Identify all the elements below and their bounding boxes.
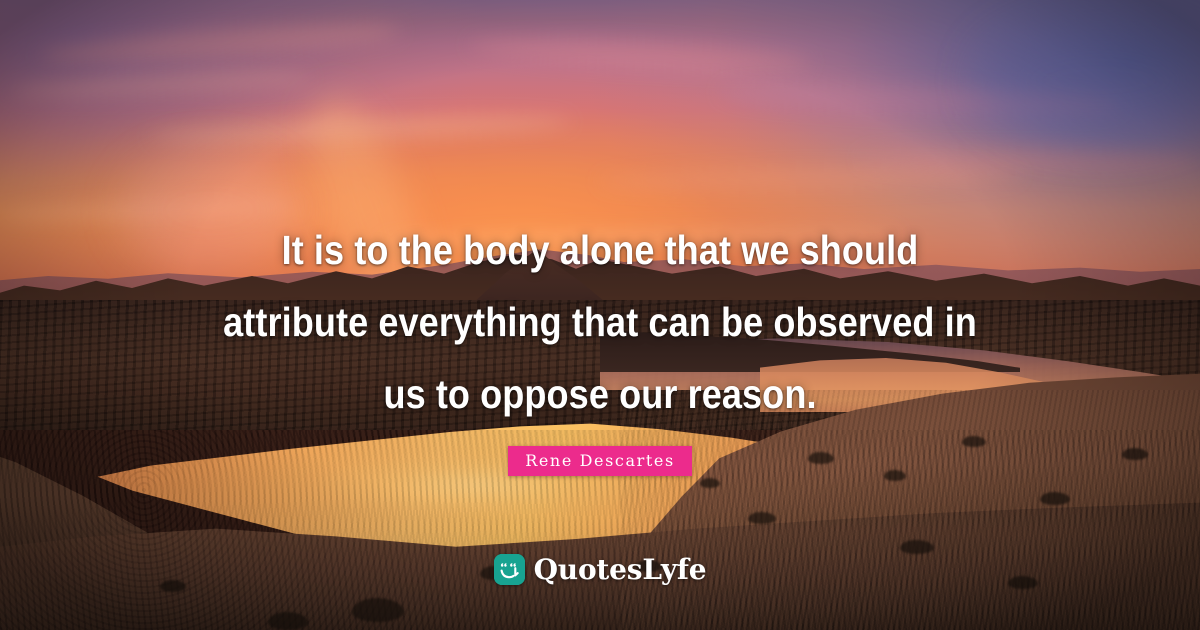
quote-smiley-icon	[494, 554, 525, 585]
quote-text-block: It is to the body alone that we should a…	[0, 214, 1200, 430]
quote-line-1: It is to the body alone that we should	[72, 214, 1128, 286]
author-name-badge[interactable]: Rene Descartes	[508, 446, 692, 476]
author-attribution: Rene Descartes	[0, 446, 1200, 476]
quote-line-2: attribute everything that can be observe…	[72, 286, 1128, 358]
quote-card: It is to the body alone that we should a…	[0, 0, 1200, 630]
brand-name: QuotesLyfe	[534, 554, 707, 585]
brand-logo[interactable]: QuotesLyfe	[0, 554, 1200, 585]
quote-line-3: us to oppose our reason.	[72, 358, 1128, 430]
